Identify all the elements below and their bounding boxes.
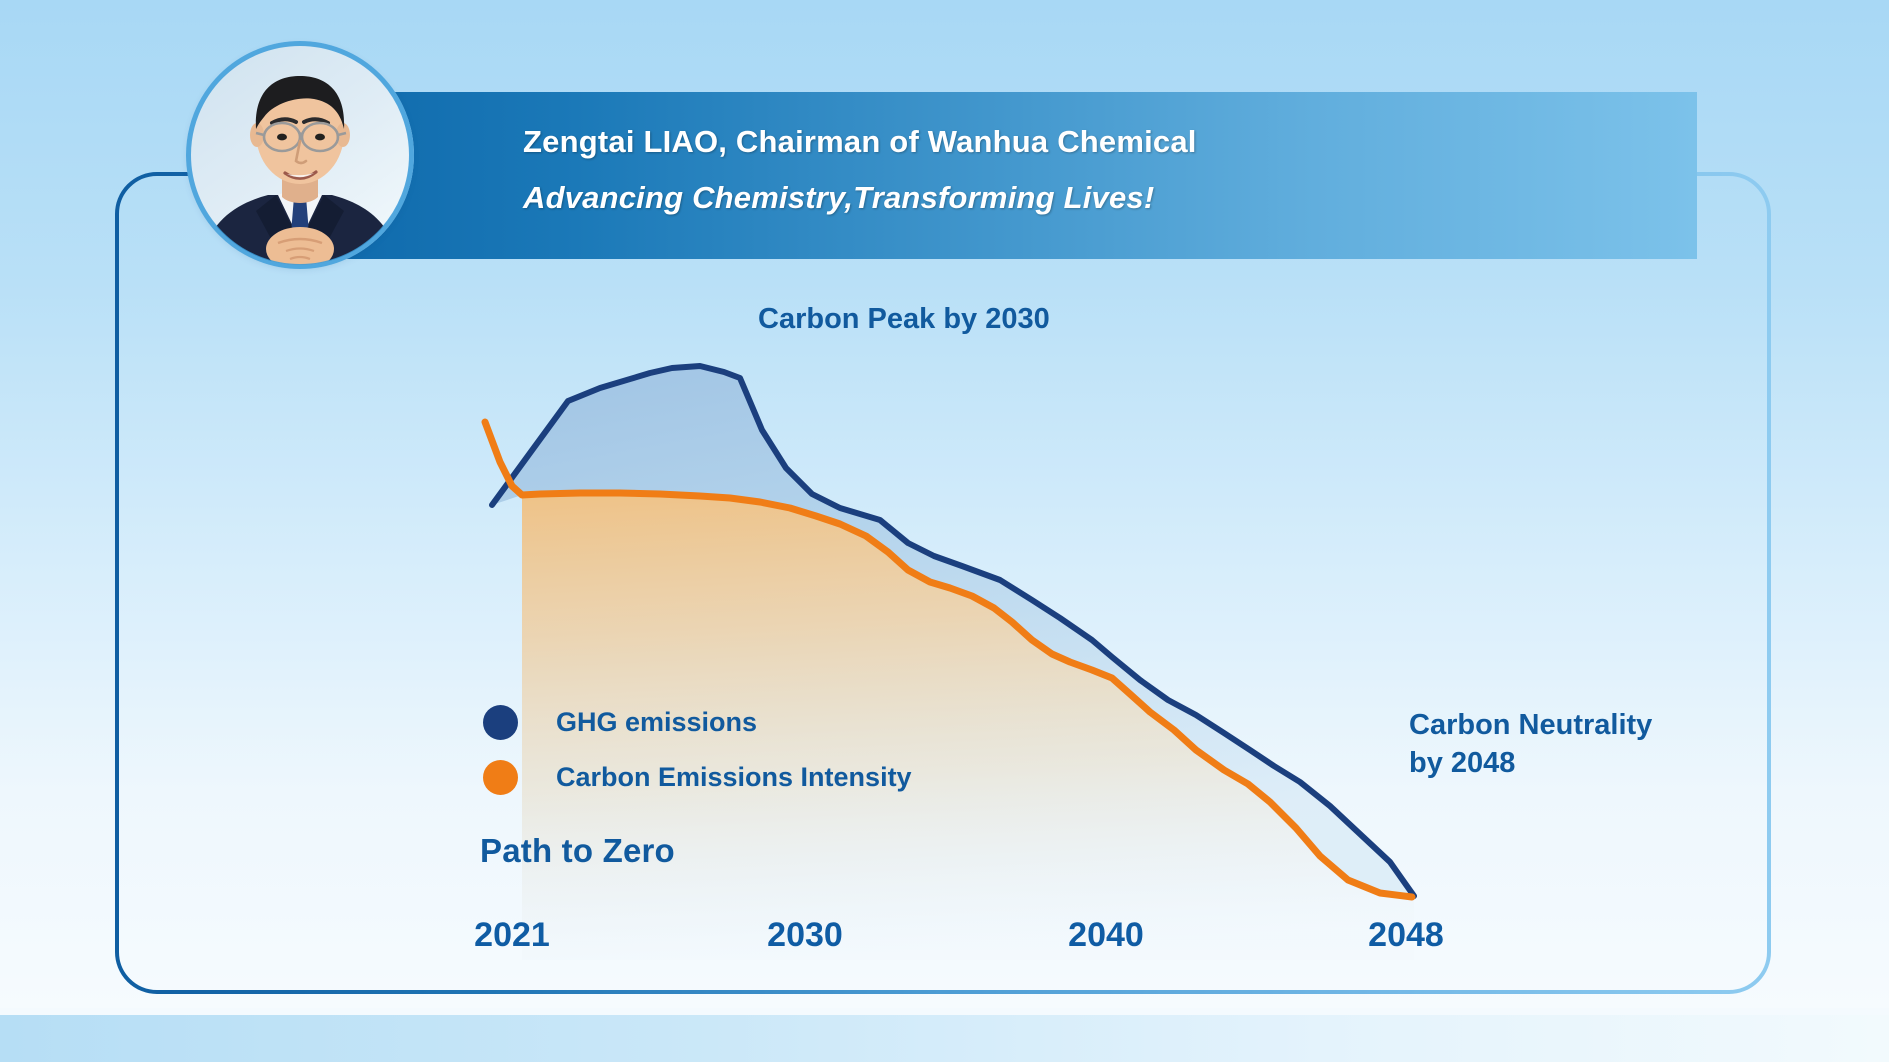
annotation-neutrality-line2: by 2048 bbox=[1409, 744, 1679, 782]
portrait-illustration bbox=[190, 45, 410, 265]
legend-swatch-circle-icon bbox=[483, 760, 518, 795]
x-tick-2048: 2048 bbox=[1368, 916, 1444, 955]
x-tick-2021: 2021 bbox=[474, 916, 550, 955]
x-axis-tick-labels: 2021 2030 2040 2048 bbox=[0, 916, 1889, 960]
avatar bbox=[190, 45, 410, 265]
header-text-block: Zengtai LIAO, Chairman of Wanhua Chemica… bbox=[523, 126, 1623, 213]
annotation-carbon-peak: Carbon Peak by 2030 bbox=[758, 303, 1050, 336]
x-tick-2040: 2040 bbox=[1068, 916, 1144, 955]
legend-item-ghg[interactable]: GHG emissions bbox=[483, 700, 912, 745]
annotation-neutrality-line1: Carbon Neutrality bbox=[1409, 706, 1679, 744]
chart-legend: GHG emissions Carbon Emissions Intensity bbox=[483, 700, 912, 800]
annotation-carbon-neutrality: Carbon Neutrality by 2048 bbox=[1409, 706, 1679, 783]
chairman-name-title: Zengtai LIAO, Chairman of Wanhua Chemica… bbox=[523, 126, 1623, 157]
legend-swatch-circle-icon bbox=[483, 705, 518, 740]
legend-label-intensity: Carbon Emissions Intensity bbox=[556, 762, 912, 793]
legend-item-intensity[interactable]: Carbon Emissions Intensity bbox=[483, 755, 912, 800]
slide-canvas: Zengtai LIAO, Chairman of Wanhua Chemica… bbox=[0, 0, 1889, 1062]
chart-title: Path to Zero bbox=[480, 832, 675, 870]
company-slogan: Advancing Chemistry,Transforming Lives! bbox=[523, 182, 1623, 213]
x-tick-2030: 2030 bbox=[767, 916, 843, 955]
legend-label-ghg: GHG emissions bbox=[556, 707, 757, 738]
